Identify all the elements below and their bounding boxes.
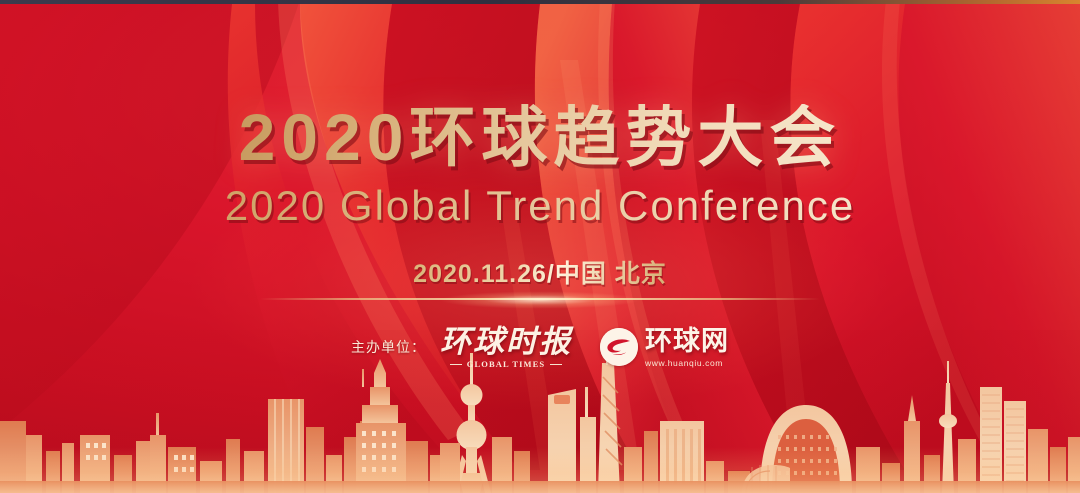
huanqiu-globe-swoosh-icon xyxy=(600,328,638,366)
huanqiu-url: www.huanqiu.com xyxy=(645,359,729,368)
poster-content: 2020环球趋势大会 2020 Global Trend Conference … xyxy=(0,0,1080,493)
global-times-name-en-row: GLOBAL TIMES xyxy=(450,360,562,369)
gold-divider xyxy=(260,294,820,304)
global-times-logo[interactable]: 环球时报 GLOBAL TIMES xyxy=(440,326,572,369)
top-edge-strip xyxy=(0,0,1080,4)
organizer-label: 主办单位： xyxy=(351,337,426,357)
organizers-row: 主办单位： 环球时报 GLOBAL TIMES xyxy=(351,326,729,369)
date-location-row: 2020.11.26/中国 北京 xyxy=(270,254,810,290)
global-times-name-en: GLOBAL TIMES xyxy=(467,360,545,369)
huanqiu-text-block: 环球网 www.huanqiu.com xyxy=(645,328,729,368)
rule-right-icon xyxy=(550,364,562,366)
global-times-name-cn: 环球时报 xyxy=(440,326,572,357)
conference-poster: 2020环球趋势大会 2020 Global Trend Conference … xyxy=(0,0,1080,493)
rule-left-icon xyxy=(450,364,462,366)
huanqiu-logo[interactable]: 环球网 www.huanqiu.com xyxy=(600,328,729,368)
page-title: 2020环球趋势大会 xyxy=(239,104,842,170)
date-location-text: 2020.11.26/中国 北京 xyxy=(413,254,667,290)
page-subtitle: 2020 Global Trend Conference xyxy=(225,184,855,228)
huanqiu-name-cn: 环球网 xyxy=(645,328,729,355)
